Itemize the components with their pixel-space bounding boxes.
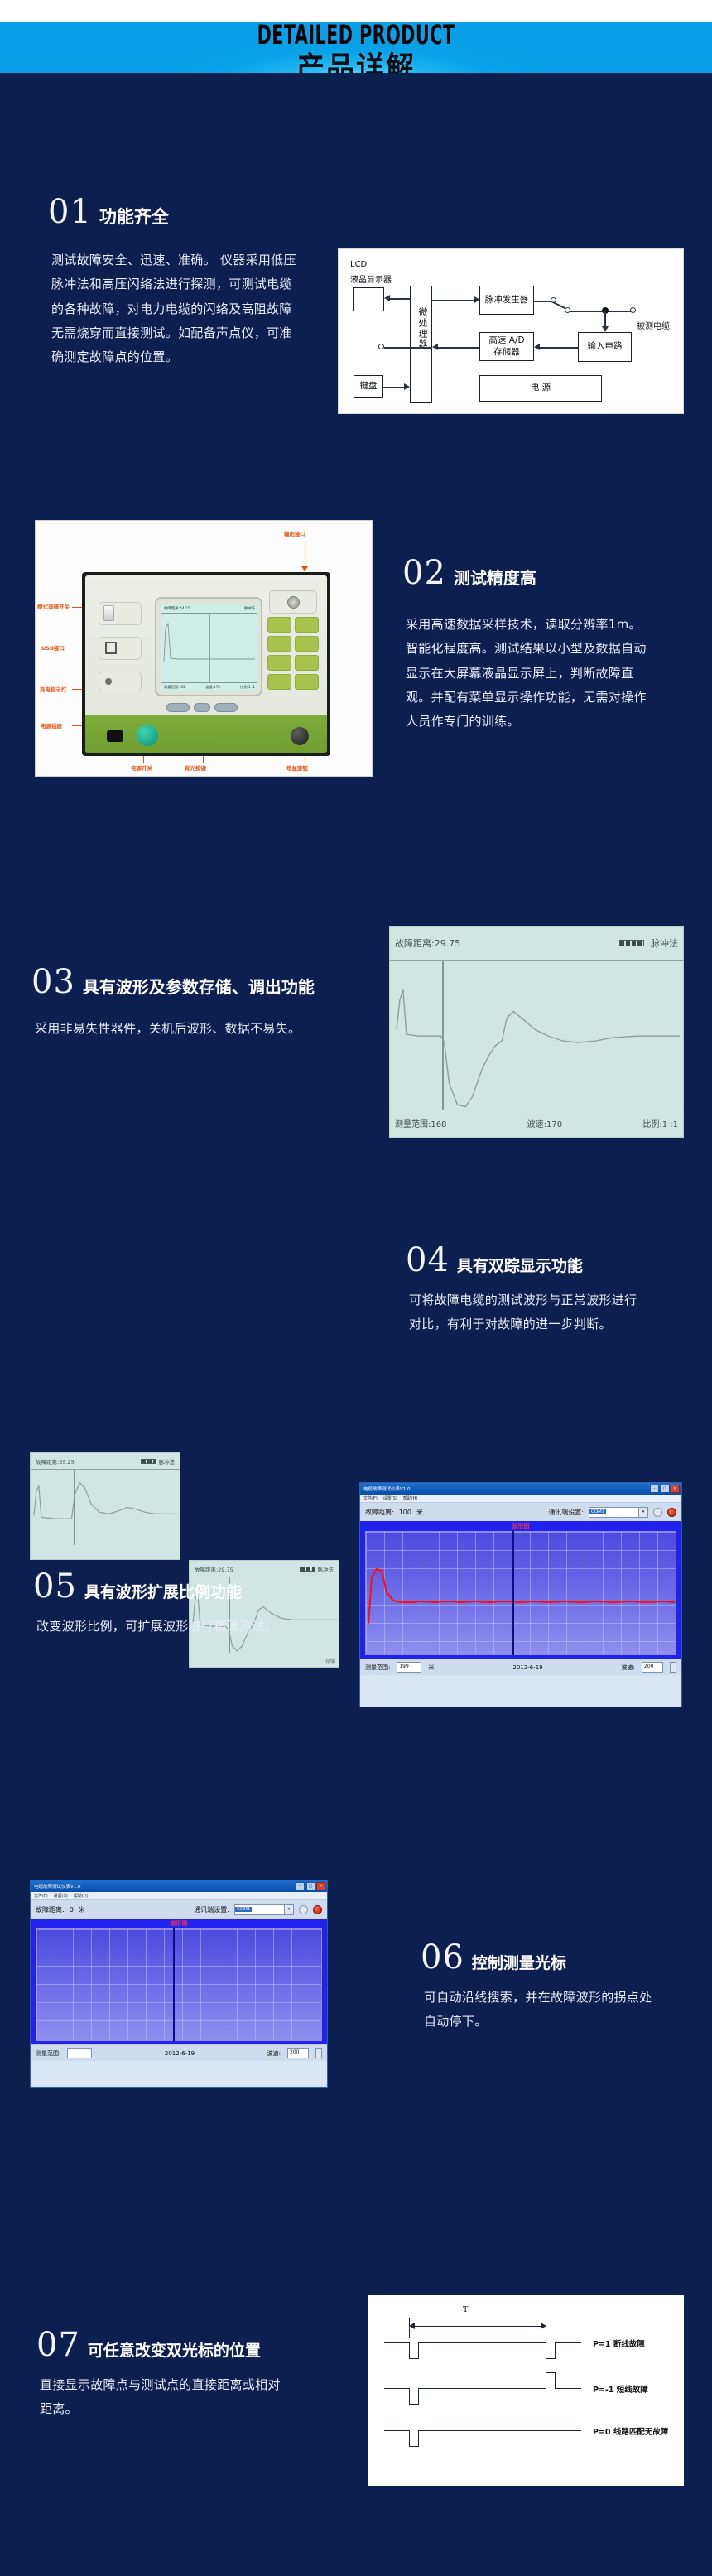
pulse-row3-seg2: [418, 2430, 581, 2431]
wave04b-note: 存储: [325, 1657, 335, 1664]
maximize-button[interactable]: □: [661, 1485, 670, 1493]
window-controls-06[interactable]: – □ ✕: [296, 1882, 325, 1890]
callout-usb-port: USB接口: [41, 643, 65, 652]
window-toolbar-06: 故障距离: 0 米 通讯端设置: COM1 ▾: [31, 1900, 327, 1919]
diagram-box-lcd: [353, 287, 384, 311]
wave03-cursor: [442, 961, 444, 1110]
pulse-row1-up1: [418, 2342, 419, 2359]
pulse-row3-seg1: [384, 2430, 410, 2431]
device-photo: 输出接口 模式选择开关 USB接口 充电指示灯 电源插座 电源开关 背光按键 增…: [35, 520, 373, 777]
toolbar-unit-05: 米: [416, 1508, 423, 1517]
block-diagram-image: LCD 液晶显示器 微处理器 键盘 脉冲发生器 高速 A/D 存储器 输入电路 …: [338, 248, 684, 414]
lcd-speed: 波速:170: [205, 685, 220, 690]
diagram-cable-terminal: [630, 307, 636, 313]
section-01-heading: 01 功能齐全: [48, 195, 169, 229]
section-05-title: 具有波形扩展比例功能: [84, 1585, 242, 1601]
diagram-label-cpu: 微处理器: [416, 307, 429, 350]
window-toolbar-05: 故障距离: 100 米 通讯端设置: COM1 ▾: [360, 1503, 681, 1521]
pulse-row2-label: P=-1 短线故障: [593, 2383, 648, 2395]
lcd-status-bottom: 测量范围:168 波速:170 比例:1 :1: [161, 682, 257, 691]
callout-charge-led: 充电指示灯: [40, 685, 67, 693]
pulse-t-label: T: [463, 2305, 468, 2314]
toolbar-fault-label-05: 故障距离:: [365, 1508, 394, 1517]
section-01-title: 功能齐全: [99, 209, 169, 226]
keypad-key[interactable]: [295, 655, 319, 671]
plot-cursor-05[interactable]: [512, 1531, 514, 1655]
power-socket[interactable]: [107, 730, 123, 742]
diagram-wire-port-cpu: [384, 347, 432, 349]
lcd-method: 脉冲法: [244, 606, 255, 611]
maximize-button[interactable]: □: [306, 1882, 315, 1890]
chevron-down-icon[interactable]: ▾: [638, 1508, 647, 1517]
section-02-body: 采用高速数据采样技术，读取分辨率1m。智能化程度高。测试结果以小型及数据自动显示…: [406, 613, 654, 734]
section-03-body: 采用非易失性器件，关机后波形、数据不易失。: [35, 1017, 333, 1041]
section-06-title: 控制测量光标: [472, 1956, 566, 1972]
diagram-wire-keyboard-cpu: [383, 387, 405, 388]
section-07-title: 可任意改变双光标的位置: [88, 2343, 261, 2359]
section-01-body: 测试故障安全、迅速、准确。 仪器采用低压脉冲法和高压闪络法进行探测，可测试电缆的…: [51, 248, 300, 369]
status-led-off-05: [653, 1508, 662, 1517]
pulse-t-arrow-line: [411, 2326, 546, 2327]
section-02-number: 02: [402, 556, 446, 590]
status-range-value-05[interactable]: 199: [397, 1662, 421, 1673]
pulse-row2-down2: [555, 2372, 556, 2389]
callout-output-port: 输出接口: [284, 529, 305, 537]
port-select-06[interactable]: COM1 ▾: [234, 1904, 294, 1915]
diagram-switch-blade: [553, 301, 565, 308]
keypad-key[interactable]: [267, 636, 291, 652]
diagram-label-lcd-cn: 液晶显示器: [350, 272, 392, 285]
status-range-value-06[interactable]: [67, 2048, 92, 2058]
status-date-06: 2012-6-19: [165, 2050, 195, 2057]
section-06-heading: 06 控制测量光标: [421, 1941, 566, 1974]
keypad-key[interactable]: [295, 617, 319, 633]
menu-item-file[interactable]: 文件(F): [34, 1893, 48, 1899]
plot-title-05: 波形图: [360, 1522, 681, 1530]
section-05-body: 改变波形比例，可扩展波形进行精确测试。: [36, 1615, 285, 1639]
pulse-row3-label: P=0 线路匹配无故障: [593, 2425, 668, 2437]
waveform-screenshot-03: 故障距离:29.75 脉冲法 测量范围:168 波速:170 比例:1 :1: [389, 926, 684, 1138]
backlight-right-key[interactable]: [214, 703, 238, 712]
pulse-row2-up2: [546, 2372, 546, 2389]
menu-item-help[interactable]: 帮助(H): [403, 1495, 418, 1501]
window-menubar-05[interactable]: 文件(F) 设置(S) 帮助(H): [360, 1495, 681, 1503]
window-statusbar-06: 测量范围: 2012-6-19 波速: 200: [31, 2044, 327, 2061]
software-window-06: 电缆故障测试仪表V1.0 – □ ✕ 文件(F) 设置(S) 帮助(H) 故障距…: [30, 1880, 328, 2088]
section-07-number: 07: [36, 2328, 80, 2362]
keypad-key[interactable]: [267, 674, 291, 690]
status-speed-value-06[interactable]: 200: [287, 2048, 309, 2058]
record-button-06[interactable]: [313, 1905, 322, 1914]
callout-power-socket: 电源插座: [41, 721, 62, 729]
diagram-port-terminal: [378, 344, 384, 349]
software-window-05: 电缆故障测试仪表V1.0 – □ ✕ 文件(F) 设置(S) 帮助(H) 故障距…: [359, 1482, 682, 1707]
bnc-connector-icon: [287, 596, 300, 609]
record-button-05[interactable]: [667, 1508, 676, 1517]
lcd-range: 测量范围:168: [164, 685, 185, 690]
device-front-panel: 故障距离:44.15 脉冲法 测量范围:168 波速:170 比例:1 :1: [85, 575, 327, 753]
diagram-switch-pole-b: [565, 307, 570, 313]
lcd-fault-distance: 故障距离:44.15: [164, 606, 190, 611]
speed-stepper-06[interactable]: [315, 2048, 322, 2058]
wave04a-method: 脉冲法: [159, 1457, 176, 1466]
window-titlebar-06: 电缆故障测试仪表V1.0 – □ ✕: [31, 1880, 327, 1892]
wave03-header: 故障距离:29.75 脉冲法: [390, 927, 683, 961]
callout-mode-switch: 模式选择开关: [37, 602, 70, 610]
port-select-value-06: COM1: [235, 1907, 252, 1912]
window-titlebar-05: 电缆故障测试仪表V1.0 – □ ✕: [360, 1483, 681, 1495]
toolbar-fault-value-05: 100: [399, 1509, 411, 1516]
minimize-button[interactable]: –: [296, 1882, 305, 1890]
diagram-label-adc-1: 高速 A/D: [488, 335, 524, 346]
status-speed-value-05[interactable]: 200: [642, 1662, 663, 1673]
close-button[interactable]: ✕: [316, 1882, 325, 1890]
pulse-row2-seg3: [555, 2388, 581, 2389]
wave04b-method: 脉冲法: [318, 1565, 334, 1573]
status-date-05: 2012-6-19: [512, 1664, 542, 1671]
diagram-label-cable: 被测电缆: [637, 319, 670, 331]
plot-cursor-06[interactable]: [173, 1928, 175, 2041]
pulse-row2-seg2: [418, 2388, 546, 2389]
status-range-label-05: 测量范围:: [365, 1664, 390, 1672]
status-speed-label-05: 波速:: [622, 1664, 635, 1672]
toolbar-unit-06: 米: [79, 1905, 85, 1914]
section-03-heading: 03 具有波形及参数存储、调出功能: [31, 965, 315, 999]
speed-stepper-05[interactable]: [670, 1662, 676, 1673]
diagram-arrow-to-cpu: [432, 344, 438, 350]
toolbar-port-label-06: 通讯端设置:: [194, 1905, 229, 1914]
keypad-key[interactable]: [267, 617, 291, 633]
diagram-box-input-circuit: 输入电路: [578, 332, 632, 362]
menu-item-help[interactable]: 帮助(H): [74, 1893, 89, 1899]
callout-gain-knob: 增益旋钮: [286, 763, 308, 772]
battery-icon: [619, 940, 644, 946]
wave03-range: 测量范围:168: [395, 1117, 446, 1129]
pulse-row2-seg1: [384, 2388, 410, 2389]
pulse-row2-down1: [409, 2388, 410, 2405]
plot-curve-05: [365, 1531, 678, 1655]
mode-switch-toggle[interactable]: [103, 605, 114, 621]
section-06-body: 可自动沿线搜索，并在故障波形的拐点处自动停下。: [424, 1986, 656, 2034]
diagram-arrow-to-input: [602, 326, 609, 332]
pulse-row3-up1: [418, 2430, 419, 2447]
backlight-center-key[interactable]: [194, 703, 210, 712]
window-title-06: 电缆故障测试仪表V1.0: [32, 1883, 81, 1890]
menu-item-file[interactable]: 文件(F): [363, 1495, 378, 1501]
pulse-row1-seg3: [555, 2342, 581, 2343]
plot-grid-06: [36, 1928, 322, 2041]
waveform-plot-05: 波形图: [360, 1521, 681, 1659]
pulse-row1-down1: [409, 2342, 410, 2359]
wave04a-header: 故障距离:55.25 脉冲法: [31, 1453, 180, 1470]
section-01-number: 01: [48, 195, 92, 229]
battery-icon: [300, 1567, 315, 1572]
top-white-strip: [0, 0, 712, 22]
device-lcd-bezel: 故障距离:44.15 脉冲法 测量范围:168 波速:170 比例:1 :1: [155, 597, 262, 696]
wave04a-plot: [31, 1470, 180, 1545]
plot-title-06: 波形图: [31, 1919, 327, 1928]
diagram-box-adc: 高速 A/D 存储器: [479, 332, 534, 361]
device-body: 故障距离:44.15 脉冲法 测量范围:168 波速:170 比例:1 :1: [82, 572, 330, 756]
lcd-ratio: 比例:1 :1: [240, 685, 255, 690]
wave03-footer: 测量范围:168 波速:170 比例:1 :1: [390, 1110, 683, 1137]
waveform-plot-06: 波形图: [31, 1919, 327, 2044]
charge-led-icon: [105, 678, 112, 685]
pulse-row1-down2: [546, 2342, 546, 2359]
backlight-left-key[interactable]: [166, 703, 190, 712]
diagram-wire-cable-input: [604, 311, 606, 326]
section-06-number: 06: [421, 1941, 464, 1974]
gain-knob[interactable]: [291, 727, 309, 745]
diagram-arrow-to-lcd: [384, 295, 390, 301]
keypad[interactable]: [267, 617, 319, 690]
pulse-row2-up1: [418, 2388, 419, 2405]
section-03-title: 具有波形及参数存储、调出功能: [83, 979, 315, 995]
wave03-speed: 波速:170: [527, 1117, 562, 1129]
pulse-row1-up2: [555, 2342, 556, 2359]
keypad-key[interactable]: [267, 655, 291, 671]
diagram-box-pulse-generator: 脉冲发生器: [479, 286, 534, 315]
diagram-label-lcd-en: LCD: [350, 260, 367, 269]
section-05-number: 05: [33, 1570, 77, 1603]
pulse-t-arrowhead-left: [409, 2323, 415, 2329]
pulse-row1-seg1: [384, 2342, 410, 2343]
diagram-wire-cpu-lcd: [390, 298, 411, 300]
diagram-arrow-to-cpu-kb: [404, 383, 410, 390]
output-port-bnc[interactable]: [269, 590, 317, 614]
pulse-row3-down1: [409, 2430, 410, 2447]
diagram-wire-adc-cpu: [438, 347, 479, 349]
section-07-body: 直接显示故障点与测试点的直接距离或相对距离。: [40, 2373, 288, 2422]
wave03-ratio: 比例:1 :1: [642, 1117, 678, 1129]
close-button[interactable]: ✕: [671, 1485, 680, 1493]
toolbar-port-label-05: 通讯端设置:: [548, 1508, 584, 1517]
diagram-wire-input-adc: [540, 347, 578, 349]
port-select-05[interactable]: COM1 ▾: [589, 1507, 648, 1518]
window-menubar-06[interactable]: 文件(F) 设置(S) 帮助(H): [31, 1892, 327, 1900]
port-select-value-05: COM1: [589, 1509, 606, 1514]
section-05-heading: 05 具有波形扩展比例功能: [33, 1570, 242, 1603]
backlight-key-group[interactable]: [166, 703, 246, 713]
toolbar-fault-label-06: 故障距离:: [36, 1905, 65, 1914]
wave03-fault: 故障距离:29.75: [395, 937, 460, 950]
callout-backlight-key: 背光按键: [185, 763, 206, 772]
callout-power-switch: 电源开关: [131, 763, 152, 772]
wave04a-cursor: [74, 1470, 75, 1545]
window-controls-05[interactable]: – □ ✕: [650, 1485, 680, 1493]
menu-item-settings[interactable]: 设置(S): [54, 1893, 68, 1899]
device-lcd-screen: 故障距离:44.15 脉冲法 测量范围:168 波速:170 比例:1 :1: [161, 604, 257, 691]
wave03-method: 脉冲法: [651, 937, 678, 950]
callout-arrow-output-port: [301, 566, 308, 571]
section-07-heading: 07 可任意改变双光标的位置: [36, 2328, 261, 2362]
pulse-row1-label: P=1 断线故障: [593, 2338, 645, 2349]
diagram-box-power: 电 源: [479, 375, 602, 402]
lcd-cursor-line: [209, 614, 210, 682]
keypad-key[interactable]: [295, 674, 319, 690]
section-04-heading: 04 具有双踪显示功能: [406, 1244, 583, 1277]
section-02-heading: 02 测试精度高: [402, 556, 536, 590]
status-led-off-06: [299, 1905, 308, 1914]
diagram-arrow-to-adc: [534, 344, 540, 350]
pulse-reflection-diagram: T P=1 断线故障 P=-1 短线故障 P=0 线路匹配无故障: [368, 2295, 684, 2486]
lcd-status-top: 故障距离:44.15 脉冲法: [161, 604, 257, 614]
diagram-box-keyboard: 键盘: [354, 375, 383, 398]
status-range-unit-05: 米: [428, 1664, 434, 1672]
usb-icon: [105, 642, 117, 654]
header-title-cn: 产品详解: [0, 43, 712, 73]
callout-line-output-port: [305, 541, 305, 568]
status-range-label-06: 测量范围:: [36, 2049, 60, 2058]
diagram-label-adc-2: 存储器: [493, 347, 520, 358]
page-header-banner: DETAILED PRODUCT 产品详解: [0, 22, 712, 73]
diagram-arrow-to-pulse: [474, 296, 480, 303]
power-switch[interactable]: [137, 725, 158, 746]
section-04-title: 具有双踪显示功能: [457, 1259, 583, 1274]
pulse-t-arrowhead-right: [541, 2323, 546, 2329]
minimize-button[interactable]: –: [650, 1485, 659, 1493]
battery-icon: [141, 1459, 156, 1464]
keypad-key[interactable]: [295, 636, 319, 652]
toolbar-fault-value-06: 0: [70, 1906, 74, 1914]
waveform-screenshot-04a: 故障距离:55.25 脉冲法: [30, 1452, 180, 1560]
diagram-wire-pulse-switch: [534, 301, 552, 302]
status-speed-label-06: 波速:: [267, 2049, 281, 2058]
section-04-number: 04: [406, 1244, 450, 1277]
wave03-plot: [390, 961, 683, 1110]
diagram-wire-cpu-pulse: [432, 300, 475, 301]
chevron-down-icon[interactable]: ▾: [284, 1905, 293, 1914]
section-02-title: 测试精度高: [454, 570, 536, 586]
window-title-05: 电缆故障测试仪表V1.0: [362, 1485, 411, 1492]
menu-item-settings[interactable]: 设置(S): [383, 1495, 397, 1501]
window-statusbar-05: 测量范围: 199 米 2012-6-19 波速: 200: [360, 1659, 681, 1675]
pulse-row1-seg2: [418, 2342, 546, 2343]
section-04-body: 可将故障电缆的测试波形与正常波形进行对比，有利于对故障的进一步判断。: [409, 1288, 649, 1337]
wave04a-fault: 故障距离:55.25: [36, 1457, 75, 1466]
section-03-number: 03: [31, 965, 75, 999]
